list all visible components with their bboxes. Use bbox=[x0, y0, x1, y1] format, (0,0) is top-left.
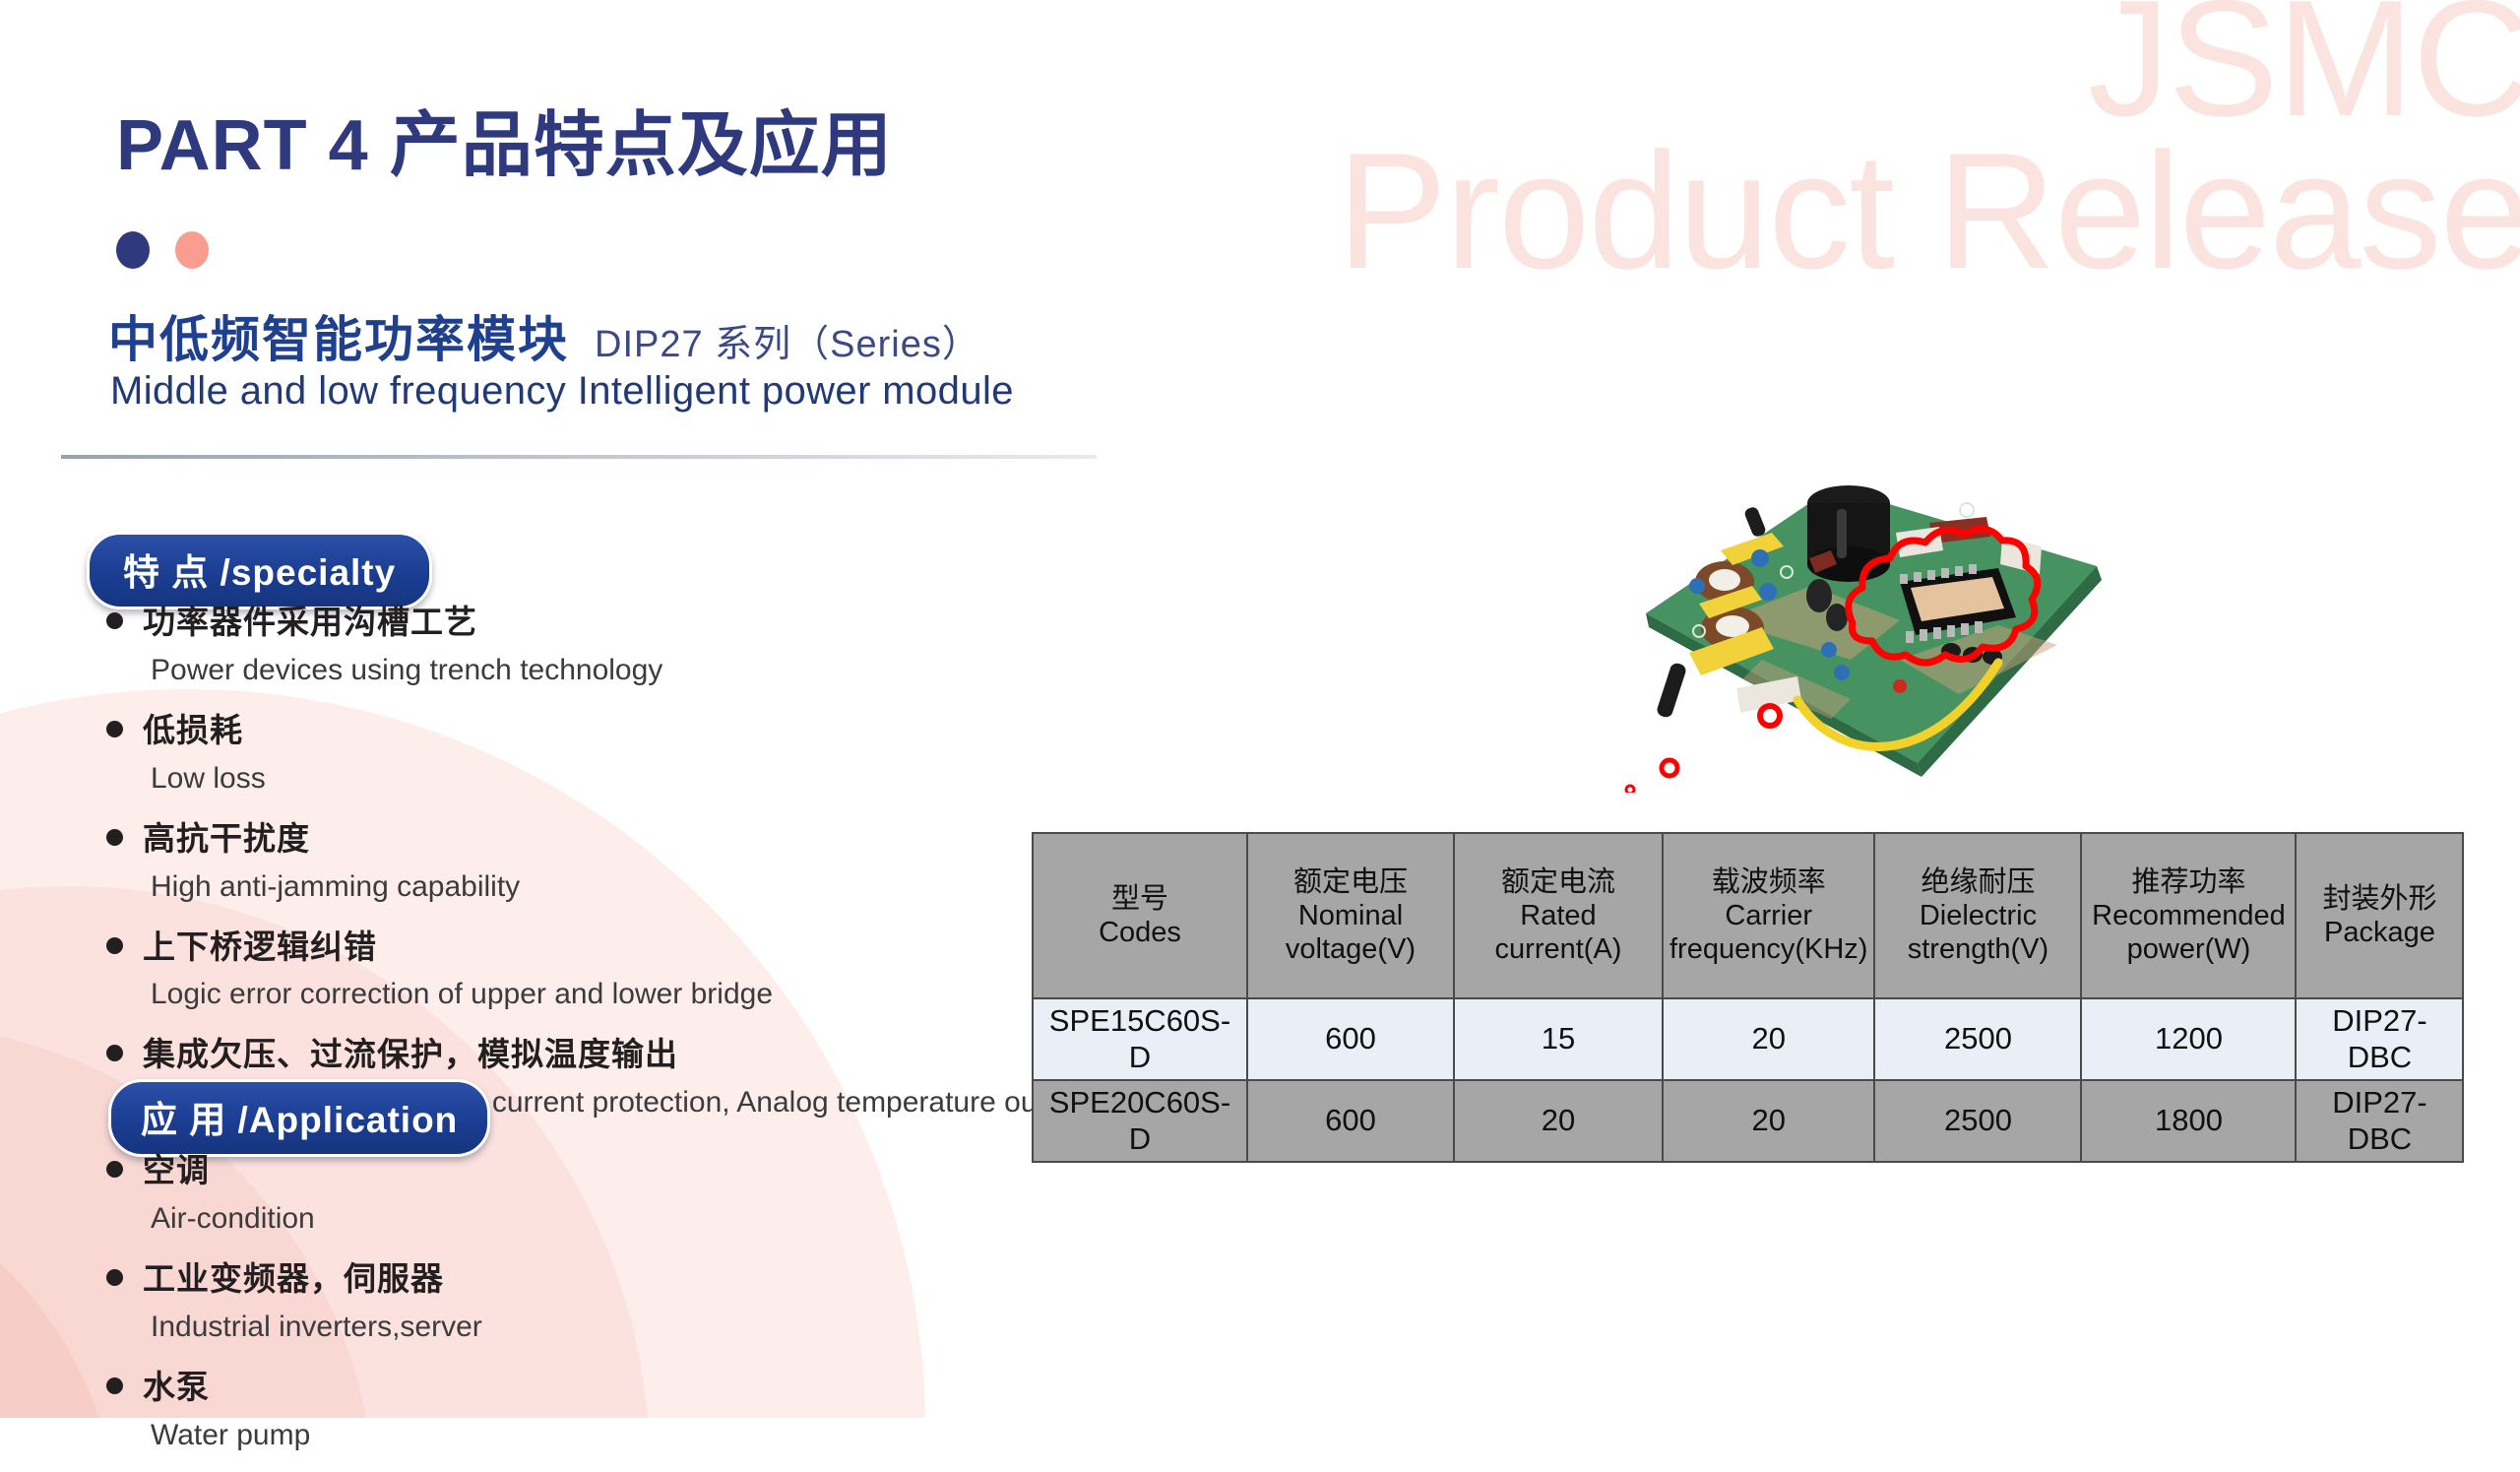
header-cn: 额定电流 bbox=[1461, 865, 1656, 899]
decorative-dots bbox=[116, 231, 209, 269]
list-item: 水泵 Water pump bbox=[106, 1364, 482, 1456]
list-item-label-cn: 水泵 bbox=[143, 1364, 210, 1411]
table-header-cell-power: 推荐功率 Recommended power(W) bbox=[2081, 833, 2296, 998]
list-item-label-cn: 上下桥逻辑纠错 bbox=[143, 924, 377, 971]
product-heading: 中低频智能功率模块 DIP27 系列（Series） bbox=[108, 300, 980, 371]
bullet-dot-icon bbox=[106, 721, 123, 737]
watermark: JSMC Product Release bbox=[1337, 0, 2520, 287]
cell-dielectric: 2500 bbox=[1874, 1080, 2081, 1162]
bullet-dot-icon bbox=[106, 1045, 123, 1061]
cell-dielectric: 2500 bbox=[1874, 998, 2081, 1080]
header-cn: 封装外形 bbox=[2302, 882, 2456, 916]
cell-voltage: 600 bbox=[1247, 998, 1454, 1080]
header-en: Dielectric bbox=[1881, 899, 2074, 932]
product-photo bbox=[1605, 448, 2116, 793]
product-name-cn: 中低频智能功率模块 bbox=[108, 300, 569, 371]
header-divider bbox=[61, 455, 1097, 459]
watermark-line-2: Product Release bbox=[1337, 135, 2520, 288]
list-item-head: 低损耗 bbox=[106, 707, 1087, 754]
application-list: 空调 Air-condition 工业变频器，伺服器 Industrial in… bbox=[106, 1147, 482, 1472]
list-item: 功率器件采用沟槽工艺 Power devices using trench te… bbox=[106, 599, 1087, 691]
table-header-cell-codes: 型号 Codes bbox=[1033, 833, 1247, 998]
list-item-label-cn: 空调 bbox=[143, 1147, 210, 1194]
table-header-cell-package: 封装外形 Package bbox=[2296, 833, 2463, 998]
header-en: voltage(V) bbox=[1254, 932, 1447, 966]
bullet-dot-icon bbox=[106, 1377, 123, 1394]
list-item-head: 高抗干扰度 bbox=[106, 815, 1087, 863]
list-item-label-en: Logic error correction of upper and lowe… bbox=[151, 974, 1087, 1015]
table-header-row: 型号 Codes 额定电压Nominal voltage(V) 额定电流 Rat… bbox=[1033, 833, 2463, 998]
cell-codes: SPE15C60S-D bbox=[1033, 998, 1247, 1080]
cell-voltage: 600 bbox=[1247, 1080, 1454, 1162]
bullet-dot-icon bbox=[106, 1269, 123, 1286]
list-item-label-en: Industrial inverters,server bbox=[151, 1307, 482, 1348]
header-en: Rated current(A) bbox=[1461, 899, 1656, 966]
table-row: SPE15C60S-D 600 15 20 2500 1200 DIP27-DB… bbox=[1033, 998, 2463, 1080]
cell-current: 20 bbox=[1454, 1080, 1663, 1162]
dot-blue-icon bbox=[116, 231, 150, 269]
watermark-line-1: JSMC bbox=[1337, 0, 2520, 135]
header-en-2: power(W) bbox=[2088, 932, 2289, 966]
list-item: 高抗干扰度 High anti-jamming capability bbox=[106, 815, 1087, 908]
list-item-label-en: High anti-jamming capability bbox=[151, 866, 1087, 908]
cell-package: DIP27-DBC bbox=[2296, 1080, 2463, 1162]
bullet-dot-icon bbox=[106, 1161, 123, 1178]
page-title: PART 4 产品特点及应用 bbox=[116, 87, 893, 190]
header-en: Package bbox=[2302, 916, 2456, 949]
section-pill-application: 应 用 /Application bbox=[108, 1079, 490, 1157]
list-item-label-en: Water pump bbox=[151, 1415, 482, 1456]
header-en: Recommended bbox=[2088, 899, 2289, 932]
header-en: Carrier bbox=[1669, 899, 1867, 932]
list-item-head: 集成欠压、过流保护，模拟温度输出 bbox=[106, 1031, 1087, 1078]
list-item-label-en: Power devices using trench technology bbox=[151, 650, 1087, 691]
header-cn: 额定电压Nominal bbox=[1254, 865, 1447, 932]
cell-frequency: 20 bbox=[1663, 1080, 1874, 1162]
background-arc-4 bbox=[0, 1162, 118, 1418]
bullet-dot-icon bbox=[106, 829, 123, 846]
table-header-cell-voltage: 额定电压Nominal voltage(V) bbox=[1247, 833, 1454, 998]
bullet-dot-icon bbox=[106, 937, 123, 954]
cell-current: 15 bbox=[1454, 998, 1663, 1080]
bullet-dot-icon bbox=[106, 612, 123, 629]
cell-power: 1800 bbox=[2081, 1080, 2296, 1162]
specialty-list: 功率器件采用沟槽工艺 Power devices using trench te… bbox=[106, 599, 1087, 1139]
cell-codes: SPE20C60S-D bbox=[1033, 1080, 1247, 1162]
table-header-cell-dielectric: 绝缘耐压 Dielectric strength(V) bbox=[1874, 833, 2081, 998]
header-en-2: frequency(KHz) bbox=[1669, 932, 1867, 966]
cell-frequency: 20 bbox=[1663, 998, 1874, 1080]
header-en: Codes bbox=[1039, 916, 1240, 949]
list-item-head: 水泵 bbox=[106, 1364, 482, 1411]
cell-power: 1200 bbox=[2081, 998, 2296, 1080]
list-item-head: 工业变频器，伺服器 bbox=[106, 1255, 482, 1303]
header-cn: 绝缘耐压 bbox=[1881, 865, 2074, 899]
spec-table: 型号 Codes 额定电压Nominal voltage(V) 额定电流 Rat… bbox=[1032, 832, 2464, 1163]
list-item-label-cn: 高抗干扰度 bbox=[143, 815, 310, 863]
list-item-head: 空调 bbox=[106, 1147, 482, 1194]
list-item: 上下桥逻辑纠错 Logic error correction of upper … bbox=[106, 924, 1087, 1016]
dot-pink-icon bbox=[175, 231, 209, 269]
header-cn: 载波频率 bbox=[1669, 865, 1867, 899]
list-item-head: 功率器件采用沟槽工艺 bbox=[106, 599, 1087, 646]
product-series: DIP27 系列（Series） bbox=[595, 313, 980, 367]
header-en-2: strength(V) bbox=[1881, 932, 2074, 966]
list-item-label-cn: 低损耗 bbox=[143, 707, 243, 754]
list-item: 空调 Air-condition bbox=[106, 1147, 482, 1240]
product-name-en: Middle and low frequency Intelligent pow… bbox=[110, 369, 1014, 414]
header-cn: 型号 bbox=[1039, 882, 1240, 916]
cell-package: DIP27-DBC bbox=[2296, 998, 2463, 1080]
list-item-label-en: Air-condition bbox=[151, 1198, 482, 1240]
list-item-head: 上下桥逻辑纠错 bbox=[106, 924, 1087, 971]
list-item: 工业变频器，伺服器 Industrial inverters,server bbox=[106, 1255, 482, 1348]
table-row: SPE20C60S-D 600 20 20 2500 1800 DIP27-DB… bbox=[1033, 1080, 2463, 1162]
list-item-label-en: Low loss bbox=[151, 758, 1087, 800]
list-item-label-cn: 工业变频器，伺服器 bbox=[143, 1255, 444, 1303]
header-cn: 推荐功率 bbox=[2088, 865, 2289, 899]
table-header-cell-current: 额定电流 Rated current(A) bbox=[1454, 833, 1663, 998]
table-header-cell-frequency: 载波频率 Carrier frequency(KHz) bbox=[1663, 833, 1874, 998]
list-item-label-cn: 功率器件采用沟槽工艺 bbox=[143, 599, 477, 646]
list-item: 低损耗 Low loss bbox=[106, 707, 1087, 800]
list-item-label-cn: 集成欠压、过流保护，模拟温度输出 bbox=[143, 1031, 678, 1078]
